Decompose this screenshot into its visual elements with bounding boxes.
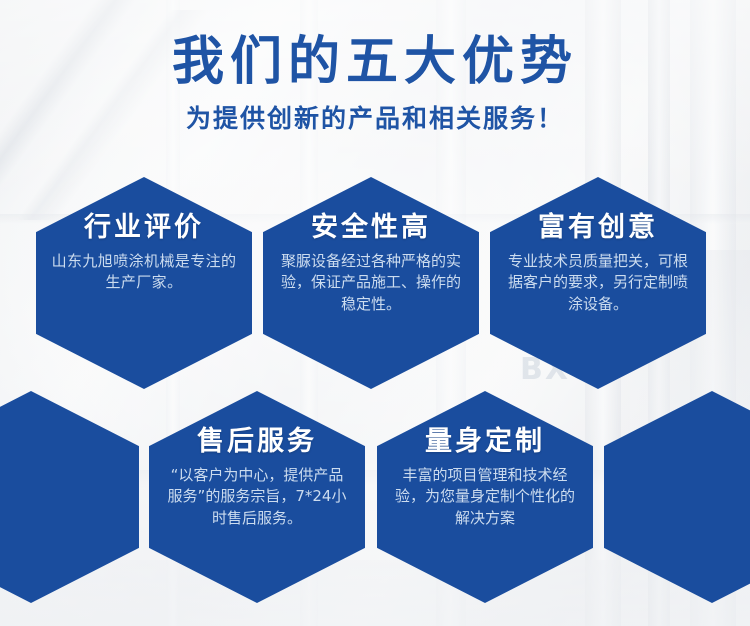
advantage-title: 量身定制 [425, 427, 545, 457]
decorative-hexagon-right [604, 391, 750, 603]
advantage-card-creative[interactable]: 富有创意 专业技术员质量把关，可根据客户的要求，另行定制喷涂设备。 [490, 177, 706, 389]
advantage-title: 售后服务 [197, 427, 317, 457]
advantage-description: “以客户为中心，提供产品服务”的服务宗旨，7*24小时售后服务。 [164, 465, 350, 530]
advantage-card-after-sales[interactable]: 售后服务 “以客户为中心，提供产品服务”的服务宗旨，7*24小时售后服务。 [149, 391, 365, 603]
advantage-description: 专业技术员质量把关，可根据客户的要求，另行定制喷涂设备。 [505, 251, 691, 316]
advantage-description: 山东九旭喷涂机械是专注的生产厂家。 [51, 251, 237, 295]
advantage-title: 富有创意 [538, 213, 658, 243]
decorative-hexagon-left [0, 391, 139, 603]
advantage-card-high-safety[interactable]: 安全性高 聚脲设备经过各种严格的实验，保证产品施工、操作的稳定性。 [263, 177, 479, 389]
advantage-description: 聚脲设备经过各种严格的实验，保证产品施工、操作的稳定性。 [278, 251, 464, 316]
advantage-title: 安全性高 [311, 213, 431, 243]
advantage-hex-grid: 行业评价 山东九旭喷涂机械是专注的生产厂家。 安全性高 聚脲设备经过各种严格的实… [0, 0, 750, 626]
advantage-title: 行业评价 [84, 213, 204, 243]
advantage-description: 丰富的项目管理和技术经验，为您量身定制个性化的解决方案 [392, 465, 578, 530]
advantage-card-industry-reputation[interactable]: 行业评价 山东九旭喷涂机械是专注的生产厂家。 [36, 177, 252, 389]
promo-banner: BXU 我们的五大优势 为提供创新的产品和相关服务！ 行业评价 山东九旭喷涂机械… [0, 0, 750, 626]
advantage-card-tailor-made[interactable]: 量身定制 丰富的项目管理和技术经验，为您量身定制个性化的解决方案 [377, 391, 593, 603]
